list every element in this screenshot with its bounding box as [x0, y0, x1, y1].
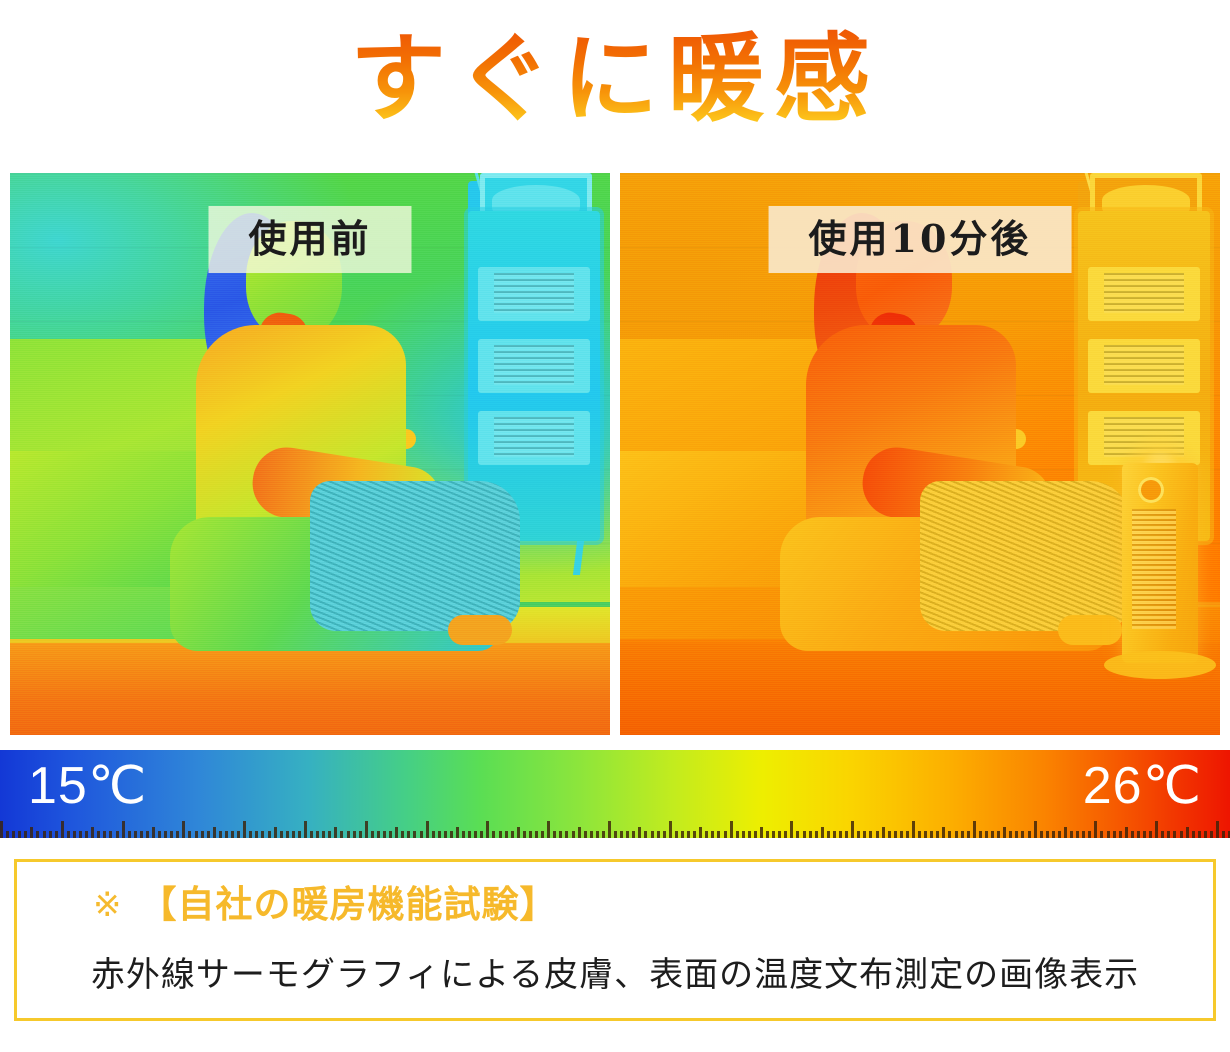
ruler-tick: [6, 831, 9, 838]
ruler-tick: [608, 821, 611, 838]
thermal-image-before: 使用前: [10, 173, 610, 735]
ruler-tick: [255, 831, 258, 838]
ruler-tick: [268, 831, 271, 838]
ruler-tick: [413, 831, 416, 838]
ruler-tick: [1040, 831, 1043, 838]
ruler-tick: [948, 831, 951, 838]
scale-ruler-ticks: [0, 818, 1230, 838]
ruler-tick: [632, 831, 635, 838]
ruler-tick: [1088, 831, 1091, 838]
ruler-tick: [529, 831, 532, 838]
ruler-tick: [432, 831, 435, 838]
blanket: [310, 481, 520, 631]
ruler-tick: [553, 831, 556, 838]
ruler-tick: [164, 831, 167, 838]
ruler-tick: [91, 827, 94, 838]
ruler-tick: [784, 831, 787, 838]
ruler-tick: [997, 831, 1000, 838]
cabinet-drawer-texture: [1104, 273, 1184, 313]
ruler-tick: [1100, 831, 1103, 838]
ruler-tick: [1216, 821, 1219, 838]
ruler-tick: [0, 821, 3, 838]
ruler-tick: [122, 821, 125, 838]
scale-max-label: 26℃: [1083, 760, 1202, 812]
ruler-tick: [620, 831, 623, 838]
ruler-tick: [584, 831, 587, 838]
ruler-tick: [213, 827, 216, 838]
ruler-tick: [188, 831, 191, 838]
ruler-tick: [176, 831, 179, 838]
ruler-tick: [420, 831, 423, 838]
ruler-tick: [699, 827, 702, 838]
person-thermal: [160, 221, 490, 651]
ruler-tick: [936, 831, 939, 838]
ruler-tick: [876, 831, 879, 838]
ruler-tick: [742, 831, 745, 838]
ruler-tick: [505, 831, 508, 838]
ruler-tick: [347, 831, 350, 838]
ruler-tick: [638, 827, 641, 838]
ruler-tick: [310, 831, 313, 838]
ruler-tick: [474, 831, 477, 838]
ruler-tick: [572, 831, 575, 838]
ruler-tick: [55, 831, 58, 838]
ruler-tick: [1143, 831, 1146, 838]
ruler-tick: [590, 831, 593, 838]
ruler-tick: [116, 831, 119, 838]
ruler-tick: [991, 831, 994, 838]
ruler-tick: [1137, 831, 1140, 838]
ruler-tick: [1076, 831, 1079, 838]
ruler-tick: [304, 821, 307, 838]
ruler-tick: [231, 831, 234, 838]
ruler-tick: [967, 831, 970, 838]
ruler-tick: [1052, 831, 1055, 838]
ruler-tick: [565, 831, 568, 838]
ruler-tick: [140, 831, 143, 838]
ruler-tick: [316, 831, 319, 838]
temperature-scale: 15℃ 26℃: [0, 750, 1230, 838]
ruler-tick: [863, 831, 866, 838]
ruler-tick: [1021, 831, 1024, 838]
ruler-tick: [170, 831, 173, 838]
ruler-tick: [444, 831, 447, 838]
page-title: すぐに暖感: [0, 14, 1230, 144]
ruler-tick: [383, 831, 386, 838]
blanket: [920, 481, 1130, 631]
ruler-tick: [450, 831, 453, 838]
ruler-tick: [1167, 831, 1170, 838]
ruler-tick: [359, 831, 362, 838]
ruler-tick: [1173, 831, 1176, 838]
ruler-tick: [1192, 831, 1195, 838]
ruler-tick: [511, 831, 514, 838]
ruler-tick: [979, 831, 982, 838]
ruler-tick: [669, 821, 672, 838]
ruler-tick: [869, 831, 872, 838]
ruler-tick: [225, 831, 228, 838]
asterisk-icon: ※: [93, 888, 122, 922]
ruler-tick: [1058, 831, 1061, 838]
ruler-tick: [499, 831, 502, 838]
ruler-tick: [395, 827, 398, 838]
ruler-tick: [322, 831, 325, 838]
ruler-tick: [985, 831, 988, 838]
ruler-tick: [748, 831, 751, 838]
ruler-tick: [61, 821, 64, 838]
ruler-tick: [955, 831, 958, 838]
page-title-text: すぐに暖感: [350, 26, 880, 132]
heater-base: [1104, 651, 1216, 679]
ruler-tick: [274, 827, 277, 838]
ruler-tick: [900, 831, 903, 838]
ruler-tick: [30, 827, 33, 838]
ruler-tick: [547, 821, 550, 838]
ruler-tick: [1161, 831, 1164, 838]
ruler-tick: [43, 831, 46, 838]
ruler-tick: [942, 827, 945, 838]
ruler-tick: [845, 831, 848, 838]
ruler-tick: [334, 827, 337, 838]
ruler-tick: [401, 831, 404, 838]
foot: [1058, 615, 1122, 645]
cabinet-drawer-texture: [494, 345, 574, 385]
ruler-tick: [128, 831, 131, 838]
ruler-tick: [1119, 831, 1122, 838]
cabinet-drawer-texture: [494, 417, 574, 457]
ruler-tick: [298, 831, 301, 838]
ruler-tick: [219, 831, 222, 838]
ruler-tick: [468, 831, 471, 838]
foot: [448, 615, 512, 645]
footnote-title: 【自社の暖房機能試験】: [140, 886, 558, 923]
ruler-tick: [249, 831, 252, 838]
ruler-tick: [1125, 827, 1128, 838]
footnote-heading: ※ 【自社の暖房機能試験】: [93, 886, 558, 923]
ruler-tick: [462, 831, 465, 838]
ruler-tick: [328, 831, 331, 838]
ruler-tick: [541, 831, 544, 838]
ruler-tick: [693, 831, 696, 838]
ruler-tick: [49, 831, 52, 838]
ruler-tick: [195, 831, 198, 838]
ruler-tick: [438, 831, 441, 838]
ruler-tick: [657, 831, 660, 838]
ruler-tick: [73, 831, 76, 838]
ruler-tick: [644, 831, 647, 838]
footnote-body: 赤外線サーモグラフィによる皮膚、表面の温度文布測定の画像表示: [17, 954, 1213, 997]
ruler-tick: [1210, 831, 1213, 838]
ruler-tick: [1204, 831, 1207, 838]
ruler-tick: [888, 831, 891, 838]
ruler-tick: [1107, 831, 1110, 838]
ruler-tick: [1094, 821, 1097, 838]
ruler-tick: [790, 821, 793, 838]
ruler-tick: [67, 831, 70, 838]
ruler-tick: [961, 831, 964, 838]
ruler-tick: [292, 831, 295, 838]
ruler-tick: [340, 831, 343, 838]
ruler-tick: [103, 831, 106, 838]
ruler-tick: [407, 831, 410, 838]
ruler-tick: [596, 831, 599, 838]
ruler-tick: [559, 831, 562, 838]
ruler-tick: [778, 831, 781, 838]
person-thermal: [770, 221, 1100, 651]
cabinet-drawer: [1088, 339, 1200, 393]
ruler-tick: [261, 831, 264, 838]
ruler-tick: [730, 821, 733, 838]
ruler-tick: [426, 821, 429, 838]
ruler-tick: [1222, 831, 1225, 838]
ruler-tick: [705, 831, 708, 838]
tower-heater: [1122, 463, 1198, 663]
ruler-tick: [821, 827, 824, 838]
ruler-tick: [796, 831, 799, 838]
ruler-tick: [973, 821, 976, 838]
ruler-tick: [663, 831, 666, 838]
heater-knob: [1138, 477, 1164, 503]
ruler-tick: [280, 831, 283, 838]
ruler-tick: [772, 831, 775, 838]
ruler-tick: [760, 827, 763, 838]
cabinet-drawer-texture: [494, 273, 574, 313]
ruler-tick: [389, 831, 392, 838]
ruler-tick: [85, 831, 88, 838]
ruler-tick: [857, 831, 860, 838]
ruler-tick: [158, 831, 161, 838]
ruler-tick: [614, 831, 617, 838]
ruler-tick: [1064, 827, 1067, 838]
ruler-tick: [651, 831, 654, 838]
ruler-tick: [18, 831, 21, 838]
cabinet-drawer: [478, 411, 590, 465]
ruler-tick: [36, 831, 39, 838]
ruler-tick: [243, 821, 246, 838]
footnote-box: ※ 【自社の暖房機能試験】 赤外線サーモグラフィによる皮膚、表面の温度文布測定の…: [14, 859, 1216, 1021]
ruler-tick: [924, 831, 927, 838]
ruler-tick: [353, 831, 356, 838]
ruler-tick: [237, 831, 240, 838]
ruler-tick: [912, 821, 915, 838]
ruler-tick: [602, 831, 605, 838]
ruler-tick: [918, 831, 921, 838]
ruler-tick: [724, 831, 727, 838]
ruler-tick: [754, 831, 757, 838]
ruler-tick: [681, 831, 684, 838]
ruler-tick: [1131, 831, 1134, 838]
ruler-tick: [1034, 821, 1037, 838]
ruler-tick: [1003, 827, 1006, 838]
ruler-tick: [1149, 831, 1152, 838]
ruler-tick: [626, 831, 629, 838]
thermal-comparison: 使用前: [10, 173, 1220, 735]
ruler-tick: [201, 831, 204, 838]
thermal-image-after: 使用10分後: [620, 173, 1220, 735]
ruler-tick: [906, 831, 909, 838]
scale-min-label: 15℃: [28, 760, 147, 812]
ruler-tick: [371, 831, 374, 838]
ruler-tick: [134, 831, 137, 838]
ruler-tick: [894, 831, 897, 838]
ruler-tick: [286, 831, 289, 838]
caption-after: 使用10分後: [769, 206, 1072, 273]
ruler-tick: [146, 831, 149, 838]
caption-before: 使用前: [208, 206, 411, 273]
ruler-tick: [523, 831, 526, 838]
ruler-tick: [1046, 831, 1049, 838]
ruler-tick: [1198, 831, 1201, 838]
ruler-tick: [711, 831, 714, 838]
ruler-tick: [182, 821, 185, 838]
ruler-tick: [833, 831, 836, 838]
cabinet-drawer: [478, 267, 590, 321]
heater-grill: [1132, 509, 1176, 629]
ruler-tick: [1028, 831, 1031, 838]
ruler-tick: [1180, 831, 1183, 838]
ruler-tick: [809, 831, 812, 838]
ruler-tick: [1113, 831, 1116, 838]
ruler-tick: [535, 831, 538, 838]
ruler-tick: [675, 831, 678, 838]
ruler-tick: [492, 831, 495, 838]
ruler-tick: [79, 831, 82, 838]
ruler-tick: [109, 831, 112, 838]
cabinet-drawer-texture: [1104, 345, 1184, 385]
ruler-tick: [766, 831, 769, 838]
ruler-tick: [365, 821, 368, 838]
rug: [10, 643, 610, 735]
ruler-tick: [486, 821, 489, 838]
ruler-tick: [1082, 831, 1085, 838]
ruler-tick: [1015, 831, 1018, 838]
ruler-tick: [578, 827, 581, 838]
ruler-tick: [97, 831, 100, 838]
ruler-tick: [152, 827, 155, 838]
ruler-tick: [687, 831, 690, 838]
ruler-tick: [736, 831, 739, 838]
ruler-tick: [480, 831, 483, 838]
ruler-tick: [517, 827, 520, 838]
ruler-tick: [1186, 827, 1189, 838]
ruler-tick: [930, 831, 933, 838]
cabinet-drawer: [478, 339, 590, 393]
cabinet-drawer: [1088, 267, 1200, 321]
ruler-tick: [377, 831, 380, 838]
ruler-tick: [803, 831, 806, 838]
ruler-tick: [827, 831, 830, 838]
ruler-tick: [1070, 831, 1073, 838]
ruler-tick: [1155, 821, 1158, 838]
ruler-tick: [456, 827, 459, 838]
ruler-tick: [1009, 831, 1012, 838]
ruler-tick: [207, 831, 210, 838]
ruler-tick: [24, 831, 27, 838]
ruler-tick: [839, 831, 842, 838]
ruler-tick: [12, 831, 15, 838]
ruler-tick: [717, 831, 720, 838]
ruler-tick: [882, 827, 885, 838]
ruler-tick: [815, 831, 818, 838]
ruler-tick: [851, 821, 854, 838]
